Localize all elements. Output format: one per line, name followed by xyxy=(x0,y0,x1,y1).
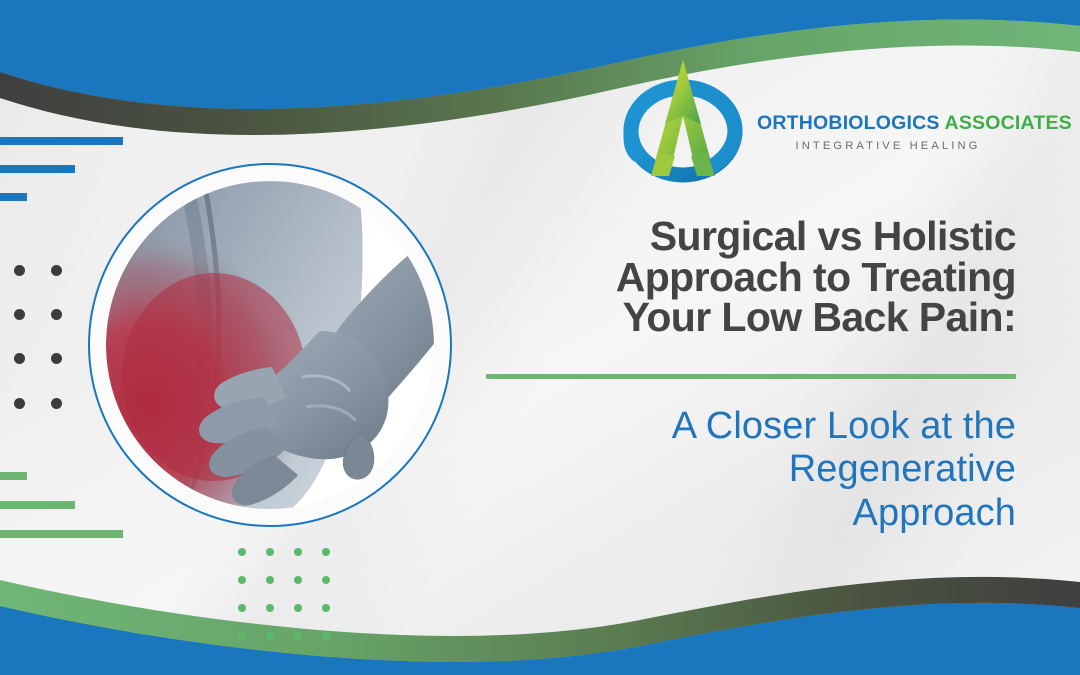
dot xyxy=(14,265,25,276)
logo-tagline: INTEGRATIVE HEALING xyxy=(757,140,1023,152)
dot xyxy=(238,632,246,640)
dot xyxy=(322,576,330,584)
accent-line-blue-3 xyxy=(0,193,27,201)
title-divider xyxy=(486,374,1016,379)
headline-line-2: Approach to Treating xyxy=(470,257,1016,298)
dot xyxy=(294,548,302,556)
dot xyxy=(51,265,62,276)
dot xyxy=(238,576,246,584)
logo-name-line: ORTHOBIOLOGICS ASSOCIATES xyxy=(757,114,1023,134)
accent-line-green-3 xyxy=(0,530,123,538)
dot xyxy=(294,576,302,584)
promo-banner: ORTHOBIOLOGICS ASSOCIATES INTEGRATIVE HE… xyxy=(0,0,1080,675)
dot xyxy=(14,353,25,364)
headline-line-3: Your Low Back Pain: xyxy=(470,297,1016,338)
subhead-line-2: Regenerative xyxy=(470,448,1016,491)
dot xyxy=(322,604,330,612)
orthobiologics-a-ring-mark xyxy=(617,52,749,184)
dot xyxy=(238,604,246,612)
page-subtitle: A Closer Look at the Regenerative Approa… xyxy=(470,405,1016,535)
dot xyxy=(51,309,62,320)
dot xyxy=(322,632,330,640)
headline-line-1: Surgical vs Holistic xyxy=(470,216,1016,257)
dot xyxy=(14,309,25,320)
dot xyxy=(294,604,302,612)
dot xyxy=(266,632,274,640)
logo-wordmark: ORTHOBIOLOGICS ASSOCIATES INTEGRATIVE HE… xyxy=(757,114,1023,152)
dot xyxy=(51,353,62,364)
subhead-line-3: Approach xyxy=(470,492,1016,535)
accent-line-green-2 xyxy=(0,501,75,509)
dot xyxy=(322,548,330,556)
dot xyxy=(51,398,62,409)
logo-name-secondary: ASSOCIATES xyxy=(945,112,1072,134)
dot xyxy=(294,632,302,640)
dot xyxy=(266,576,274,584)
dot xyxy=(266,604,274,612)
logo-name-primary: ORTHOBIOLOGICS xyxy=(757,112,940,134)
accent-line-blue-1 xyxy=(0,137,123,145)
low-back-pain-illustration xyxy=(106,181,434,509)
subhead-line-1: A Closer Look at the xyxy=(470,405,1016,448)
dot xyxy=(238,548,246,556)
dot xyxy=(266,548,274,556)
dot xyxy=(14,398,25,409)
brand-logo: ORTHOBIOLOGICS ASSOCIATES INTEGRATIVE HE… xyxy=(617,52,1017,184)
low-back-pain-photo xyxy=(106,181,434,509)
page-title: Surgical vs Holistic Approach to Treatin… xyxy=(470,216,1016,338)
accent-line-blue-2 xyxy=(0,165,75,173)
accent-line-green-1 xyxy=(0,472,27,480)
